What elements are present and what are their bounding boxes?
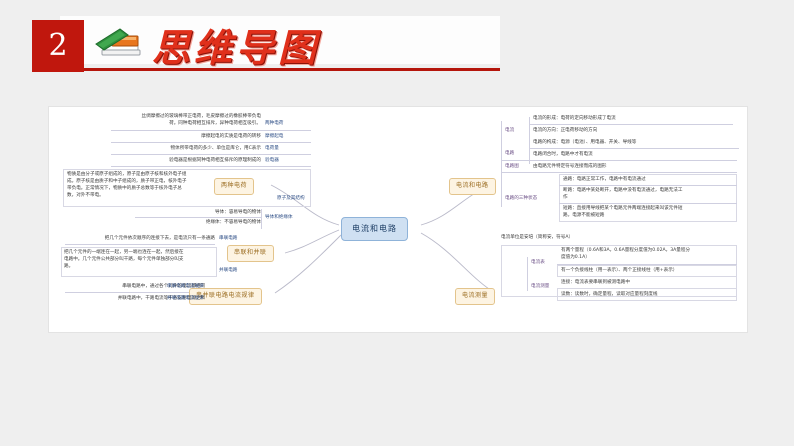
group-item-current-formation: 电流的形成：电荷的定向移动形成了电流 [533,115,743,122]
group-item-state-short: 短路：直接用导线把某个电路元件两端连接起来叫该元件短 路。电源不能被短路 [563,205,735,219]
leaf-text-charge-quantity: 物体所带电荷的多少、单位是库仑，用C表示 [71,145,261,152]
branch-node-series-parallel[interactable]: 串联和并联 [227,245,274,262]
leaf-text-two-charges: 丝绸摩擦过的玻璃棒带正电荷，毛皮摩擦过的橡胶棒带负电 荷。同种电荷相互排斥，异种… [71,113,261,127]
group-tag-ammeter: 电流表 [531,259,545,266]
section-number-badge: 2 [32,20,84,72]
leaf-tag-series-circuit: 串联电路 [219,235,237,242]
leaf-text-conductor: 导体：容易导电的物体 [109,209,261,216]
leaf-text-insulator: 绝缘体：不容易导电的物体 [109,219,261,226]
group-item-circuit-closed: 电路闭合时，电路中才有电流 [533,151,748,158]
stacked-books-icon [94,26,150,60]
leaf-tag-parallel-circuit: 并联电路 [219,267,237,274]
group-item-ammeter-ranges: 有两个量程（0.6A和3A，0.6A量程分度值为0.02A，3A量程分 度值为0… [561,247,735,261]
group-item-current-direction: 电流的方向：正电荷移动的方向 [533,127,743,134]
branch-node-current-and-circuit[interactable]: 电流和电路 [449,178,496,195]
group-item-measure-reading: 读数：读数时，确定量程，读取对应量程刻度线 [561,291,735,298]
page-title: 思维导图 [152,17,320,72]
leaf-text-electroscope: 验电器是根据同种电荷相互排斥的原理制成的 [71,157,261,164]
group-tag-three-states: 电路的三种状态 [505,195,537,202]
headline-current-unit: 电流单位是安培（简称安，符号A） [501,234,731,241]
branch-node-current-measurement[interactable]: 电流测量 [455,288,495,305]
leaf-tag-friction-electrification: 摩擦起电 [265,133,283,140]
leaf-text-friction-electrification: 摩擦起电的实质是电荷的转移 [71,133,261,140]
group-tag-circuit-diagram: 电路图 [505,163,519,170]
group-item-state-closed: 通路：电路正常工作，电路中有电流通过 [563,176,735,183]
leaf-tag-two-charges: 两种电荷 [265,120,283,127]
mindmap-center-node[interactable]: 电流和电路 [341,217,408,241]
group-item-measure-connect: 连接：电流表要串联到被测电路中 [561,279,735,286]
leaf-tag-atom-structure: 原子及其结构 [277,195,305,202]
leaf-text-series-circuit: 把几个元件依次顺序的连接下去，是电流只有一条通路 [65,235,215,242]
group-item-circuit-composition: 电路的构成：电源（电池）、用电器、开关、导线等 [533,139,748,146]
group-item-circuit-diagram-def: 由电路元件特定符号连接而成的图形 [533,163,748,170]
group-item-state-open: 断路：电路中某处断开，电路中没有电流通过，电路无法工 作 [563,187,735,201]
leaf-tag-electroscope: 验电器 [265,157,279,164]
group-tag-measure-method: 电流测量 [531,283,549,290]
group-tag-circuit: 电路 [505,150,514,157]
leaf-tag-charge-quantity: 电荷量 [265,145,279,152]
leaf-tag-parallel-current-law: 并联电路电流规律 [167,295,204,302]
leaf-text-atom-structure: 物质是由分子或原子组成的，原子是由原子核和核外电子组 成。原子核是由质子和中子组… [67,171,295,199]
group-tag-current: 电流 [505,127,514,134]
leaf-text-parallel-circuit: 把几个元件的一端连在一起，另一端也连在一起，然后接在 电路中。几个元件公共部分叫… [64,249,214,270]
slide-header: 2 思维导图 [0,0,794,90]
leaf-tag-series-current-law: 串联电路电流规律 [167,283,204,290]
leaf-tag-conductor-insulator: 导体和绝缘体 [265,214,293,221]
group-item-ammeter-terminals: 有一个负接线柱（用—表示）、两个正接线柱（用+表示） [561,267,735,274]
mindmap-canvas: 电流和电路 两种电荷 丝绸摩擦过的玻璃棒带正电荷，毛皮摩擦过的橡胶棒带负电 荷。… [48,106,748,333]
